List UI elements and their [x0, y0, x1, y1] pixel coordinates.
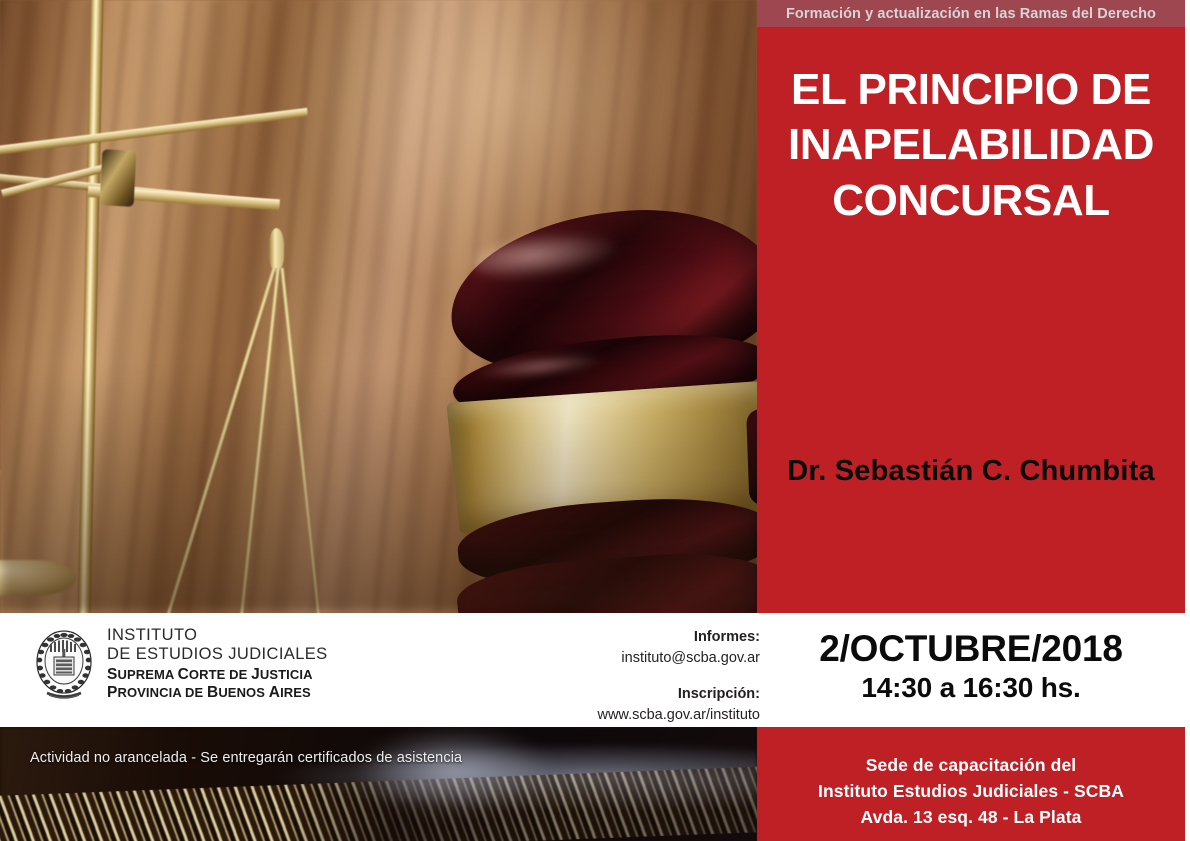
schedule-block: 2/OCTUBRE/2018 14:30 a 16:30 hs. — [757, 613, 1185, 727]
contact-spacer — [430, 668, 760, 684]
logo-line-suprema-corte: SUPREMA CORTE DE JUSTICIA — [107, 666, 328, 684]
poster-root: Formación y actualización en las Ramas d… — [0, 0, 1190, 841]
institution-logo-text: INSTITUTO DE ESTUDIOS JUDICIALES SUPREMA… — [107, 626, 328, 702]
page-title-line-3: CONCURSAL — [765, 173, 1177, 228]
info-band: INSTITUTO DE ESTUDIOS JUDICIALES SUPREMA… — [0, 613, 1190, 727]
speaker-name: Dr. Sebastián C. Chumbita — [765, 455, 1177, 488]
page-title-line-1: EL PRINCIPIO DE — [765, 62, 1177, 117]
photo-bottom-shade — [0, 368, 757, 613]
venue-line-1: Sede de capacitación del — [866, 752, 1077, 778]
inscripcion-url[interactable]: www.scba.gov.ar/instituto — [430, 705, 760, 726]
page-title: EL PRINCIPIO DE INAPELABILIDAD CONCURSAL — [765, 62, 1177, 228]
logo-line-provincia: PROVINCIA DE BUENOS AIRES — [107, 684, 328, 702]
top-banner-text: Formación y actualización en las Ramas d… — [786, 6, 1156, 22]
contact-block: Informes: instituto@scba.gov.ar Inscripc… — [430, 627, 760, 725]
inscripcion-label: Inscripción: — [430, 684, 760, 705]
footer-photo: Actividad no arancelada - Se entregarán … — [0, 727, 757, 841]
page-title-line-2: INAPELABILIDAD — [765, 117, 1177, 172]
venue-line-3: Avda. 13 esq. 48 - La Plata — [861, 804, 1082, 830]
informes-label: Informes: — [430, 627, 760, 648]
event-time: 14:30 a 16:30 hs. — [861, 672, 1080, 704]
event-date: 2/OCTUBRE/2018 — [819, 630, 1123, 669]
hero-red-panel: Formación y actualización en las Ramas d… — [757, 0, 1185, 613]
informes-email[interactable]: instituto@scba.gov.ar — [430, 648, 760, 669]
scba-coat-of-arms-icon — [33, 627, 95, 701]
logo-line-estudios: DE ESTUDIOS JUDICIALES — [107, 645, 328, 664]
scales-pivot-icon — [100, 149, 137, 207]
free-activity-note: Actividad no arancelada - Se entregarán … — [30, 750, 462, 766]
venue-block: Sede de capacitación del Instituto Estud… — [757, 727, 1185, 841]
venue-line-2: Instituto Estudios Judiciales - SCBA — [818, 778, 1124, 804]
hero-photo — [0, 0, 757, 613]
right-edge-margin — [1185, 0, 1190, 841]
institution-logo: INSTITUTO DE ESTUDIOS JUDICIALES SUPREMA… — [33, 626, 328, 702]
logo-line-instituto: INSTITUTO — [107, 626, 328, 645]
top-banner: Formación y actualización en las Ramas d… — [757, 0, 1185, 27]
scales-hook-icon — [269, 228, 284, 272]
